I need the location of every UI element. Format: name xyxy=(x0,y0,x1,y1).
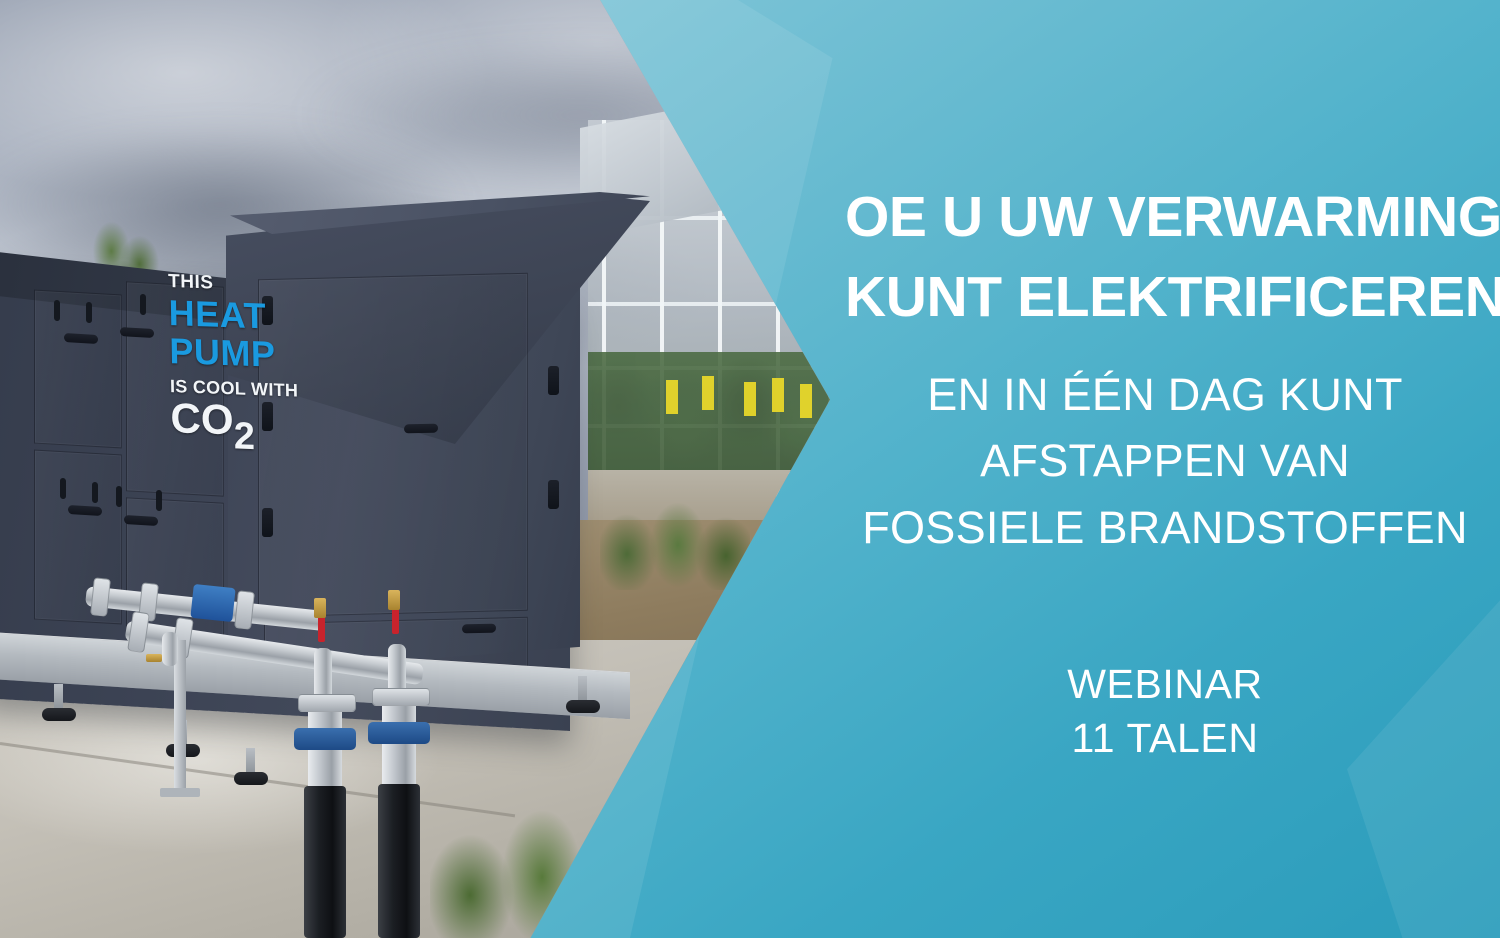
door-hinge xyxy=(262,508,273,537)
leveling-foot-stem xyxy=(246,748,255,774)
insulated-riser xyxy=(378,784,420,938)
riser-blue-flange xyxy=(294,728,356,750)
sticky-trap xyxy=(800,384,812,418)
grass xyxy=(600,500,750,590)
headline-line-2: KUNT ELEKTRIFICEREN xyxy=(845,258,1485,338)
promo-banner: THIS HEAT PUMP IS COOL WITH CO2 xyxy=(0,0,1500,938)
leveling-foot xyxy=(234,772,268,785)
sticky-trap xyxy=(666,380,678,414)
sticky-trap xyxy=(744,382,756,416)
leveling-foot-stem xyxy=(54,684,63,710)
event-languages-label: 11 TALEN xyxy=(845,711,1485,765)
headline-line-1: OE U UW VERWARMING xyxy=(845,178,1485,258)
panel-handle xyxy=(68,505,102,516)
drain-valve xyxy=(146,654,162,662)
pipe-elbow xyxy=(162,632,178,666)
sticky-trap xyxy=(702,376,714,410)
pipe-support-foot xyxy=(160,788,200,797)
panel-latch xyxy=(140,294,146,315)
leveling-foot xyxy=(42,708,76,721)
panel-latch xyxy=(92,482,98,503)
subheadline-line-1: EN IN ÉÉN DAG KUNT xyxy=(845,362,1485,429)
panel-latch xyxy=(156,490,162,511)
door-handle xyxy=(462,624,496,634)
valve-handle-red xyxy=(392,606,399,634)
riser-blue-flange xyxy=(368,722,430,744)
greenhouse-foliage xyxy=(588,352,830,472)
unit-branding-decal: THIS HEAT PUMP IS COOL WITH CO2 xyxy=(168,272,303,458)
valve-stem-brass xyxy=(314,598,326,618)
panel-latch xyxy=(116,486,122,507)
valve-body-blue xyxy=(190,584,235,622)
panel-handle xyxy=(64,333,98,344)
valve-handle-red xyxy=(318,614,325,642)
panel-latch xyxy=(60,478,66,499)
event-info: WEBINAR 11 TALEN xyxy=(845,657,1485,765)
decal-line-pump: PUMP xyxy=(169,333,302,374)
valve-stem-brass xyxy=(388,590,400,610)
sticky-trap xyxy=(772,378,784,412)
panel-latch xyxy=(54,300,60,321)
leveling-foot-stem xyxy=(578,676,587,702)
decal-line-this: THIS xyxy=(168,271,214,294)
door-hinge xyxy=(548,480,559,509)
riser-cap xyxy=(298,694,356,712)
riser-cap xyxy=(372,688,430,706)
door-handle xyxy=(404,424,438,434)
subheadline-line-2: AFSTAPPEN VAN xyxy=(845,428,1485,495)
leveling-foot xyxy=(566,700,600,713)
subheadline-line-3: FOSSIELE BRANDSTOFFEN xyxy=(845,495,1485,562)
event-type-label: WEBINAR xyxy=(845,657,1485,711)
subheadline: EN IN ÉÉN DAG KUNT AFSTAPPEN VAN FOSSIEL… xyxy=(845,362,1485,562)
access-panel xyxy=(34,290,122,449)
door-hinge xyxy=(548,366,559,395)
copy-block: OE U UW VERWARMING KUNT ELEKTRIFICEREN E… xyxy=(830,0,1500,938)
panel-latch xyxy=(86,302,92,323)
decal-line-heat: HEAT xyxy=(168,295,301,336)
insulated-riser xyxy=(304,786,346,938)
headline: OE U UW VERWARMING KUNT ELEKTRIFICEREN xyxy=(845,178,1485,338)
panel-handle xyxy=(120,327,154,338)
panel-handle xyxy=(124,515,158,526)
decal-line-co2: CO2 xyxy=(170,397,303,458)
